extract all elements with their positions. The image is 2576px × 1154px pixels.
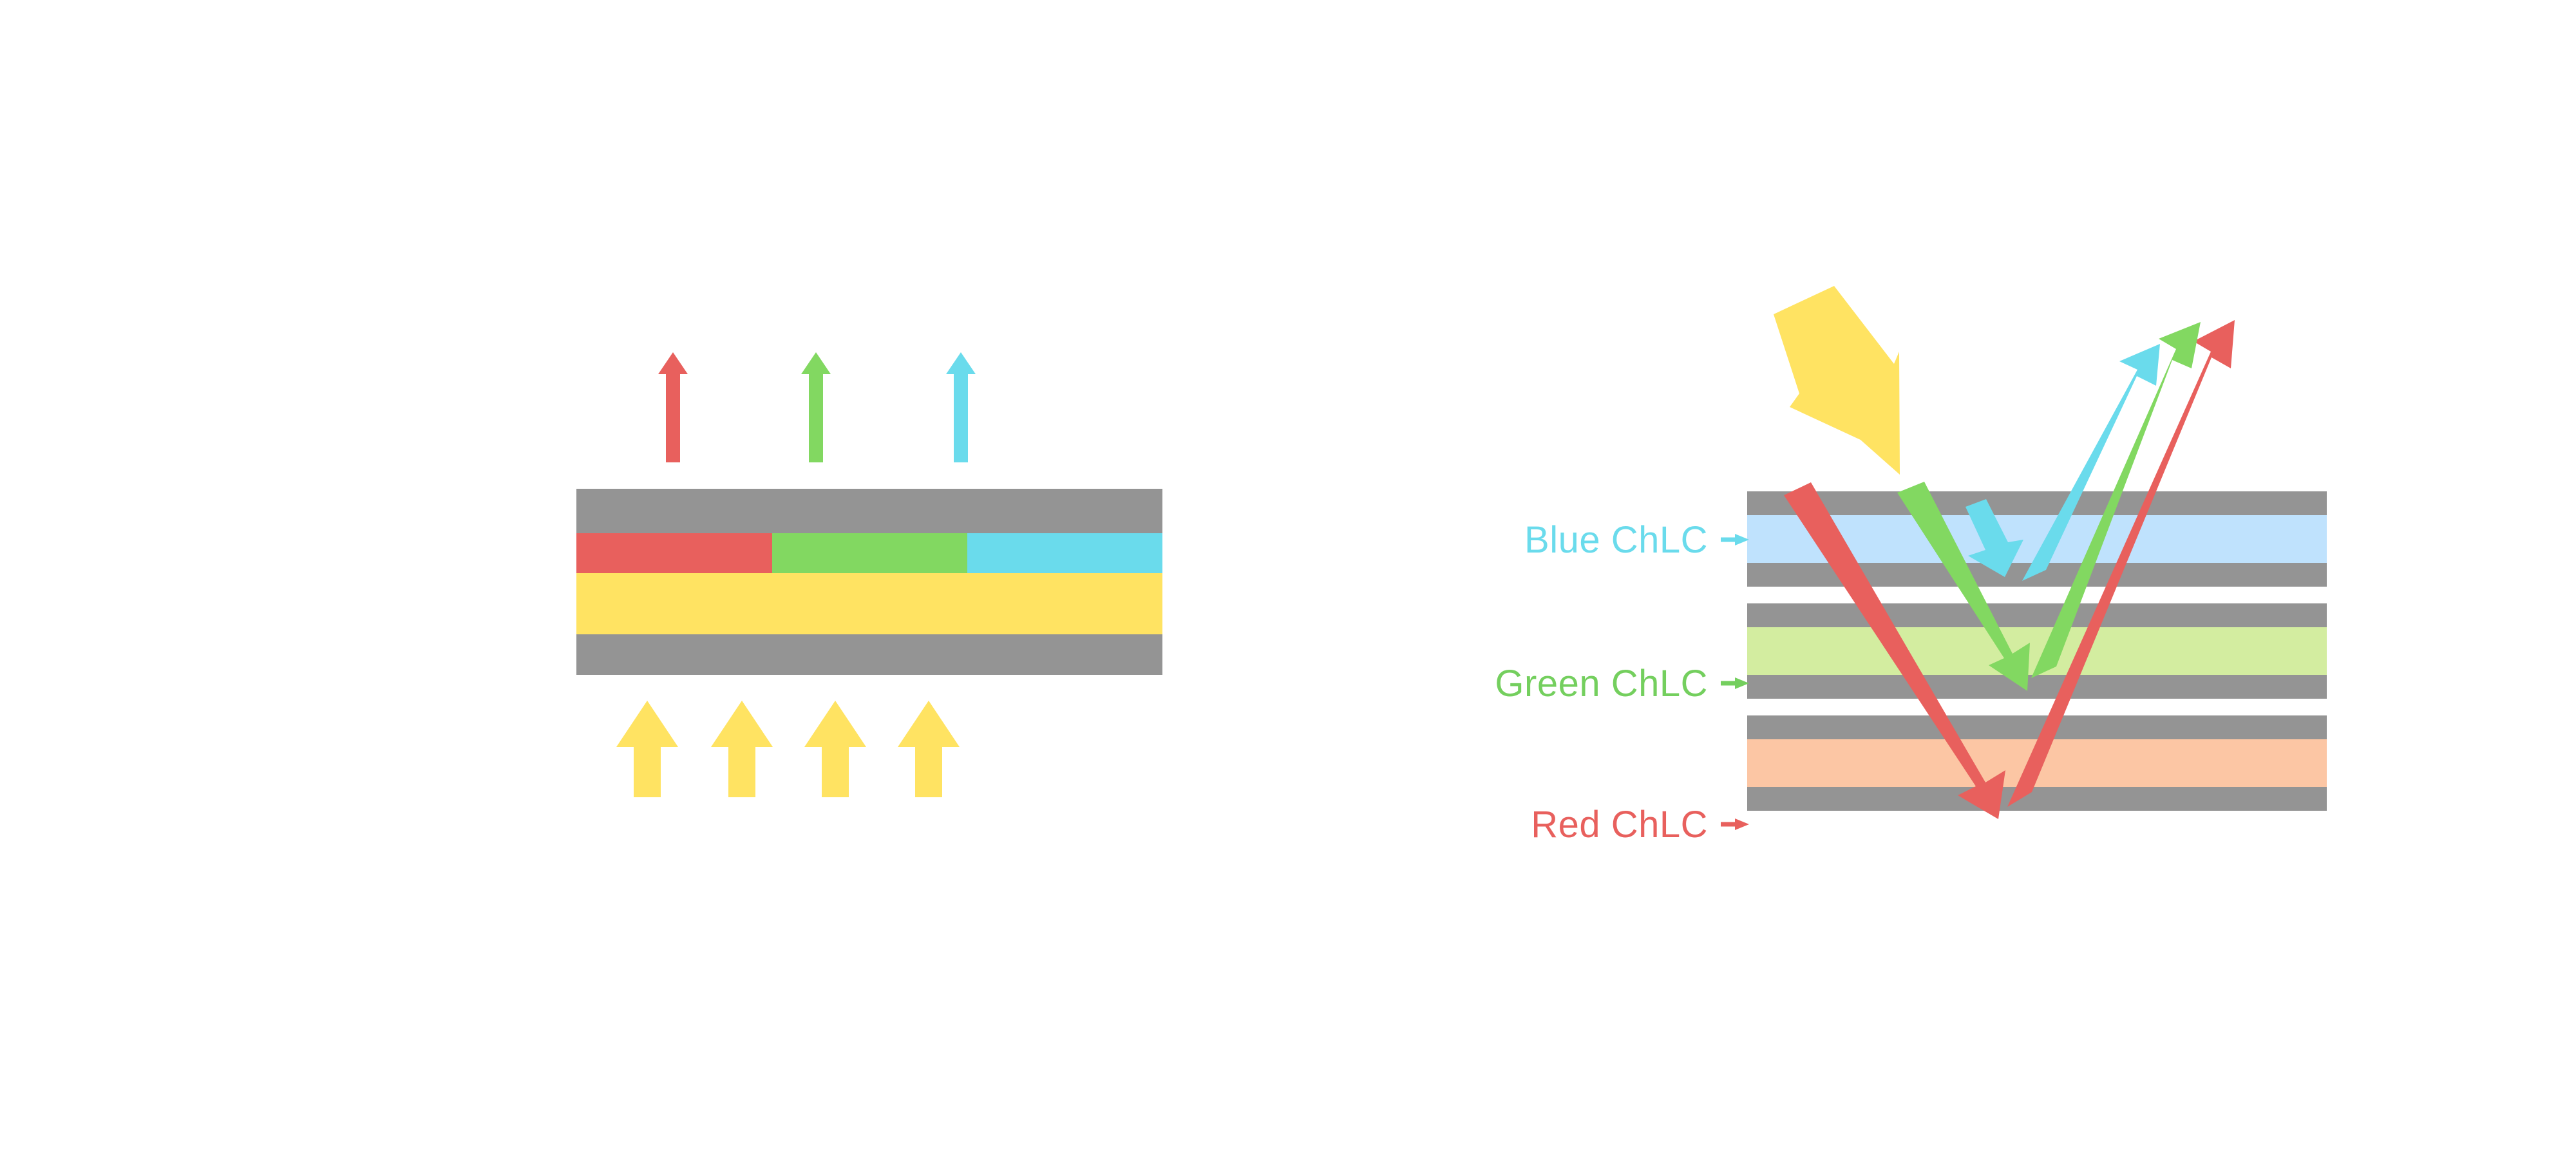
blue-chlc-label: Blue ChLC — [1524, 519, 1708, 561]
left-stack-layers — [576, 489, 1162, 675]
gray-electrode-1 — [1747, 491, 2327, 515]
chlc-display-diagram: Blue ChLC Green ChLC Red ChLC — [0, 0, 2576, 1154]
gray-electrode-5 — [1747, 715, 2327, 739]
red-color-filter — [576, 533, 772, 573]
blue-color-filter — [967, 533, 1162, 573]
left-bottom-gray-substrate — [576, 634, 1162, 675]
gray-electrode-6 — [1747, 787, 2327, 811]
diagram-root: Blue ChLC Green ChLC Red ChLC — [0, 0, 2576, 1154]
gray-electrode-4 — [1747, 675, 2327, 699]
yellow-backlight-layer — [576, 573, 1162, 634]
red-chlc-label: Red ChLC — [1531, 804, 1708, 846]
gray-electrode-3 — [1747, 603, 2327, 627]
green-color-filter — [772, 533, 967, 573]
green-chlc-label: Green ChLC — [1495, 663, 1708, 705]
left-top-gray-substrate — [576, 489, 1162, 533]
